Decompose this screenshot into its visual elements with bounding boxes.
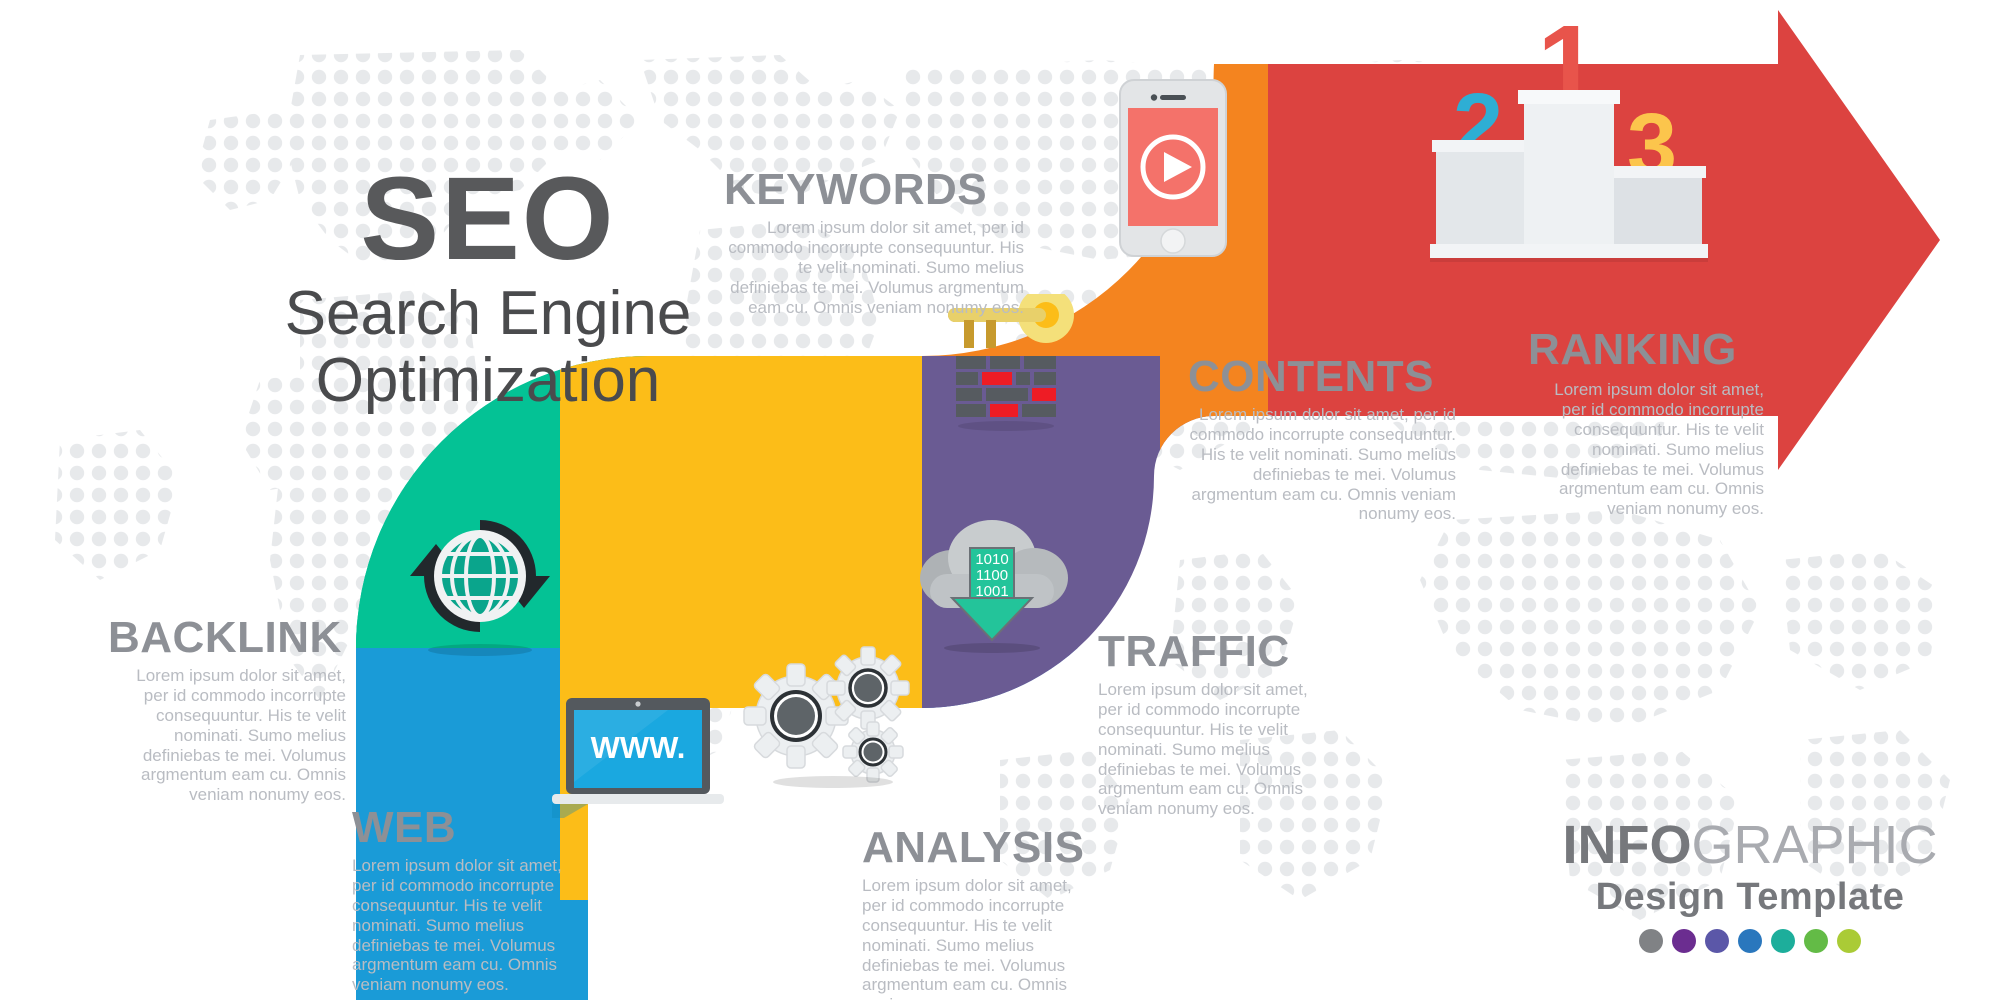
step-body-backlink: Lorem ipsum dolor sit amet, per id commo… bbox=[108, 666, 346, 805]
footer-logo: INFOGRAPHIC Design Template bbox=[1540, 818, 1960, 953]
smartphone-play-icon bbox=[1118, 78, 1228, 258]
footer-dot-5 bbox=[1771, 929, 1795, 953]
footer-dot-2 bbox=[1672, 929, 1696, 953]
podium-icon: 1 2 3 bbox=[1420, 14, 1720, 264]
footer-tagline: Design Template bbox=[1540, 876, 1960, 919]
footer-logo-wordmark: INFOGRAPHIC bbox=[1540, 818, 1960, 872]
gears-icon bbox=[738, 640, 928, 790]
step-body-traffic: Lorem ipsum dolor sit amet, per id commo… bbox=[1098, 680, 1336, 819]
step-block-backlink: BACKLINK Lorem ipsum dolor sit amet, per… bbox=[108, 616, 346, 805]
cloud-download-icon: 1010 1100 1001 bbox=[908, 516, 1076, 656]
step-body-keywords: Lorem ipsum dolor sit amet, per id commo… bbox=[724, 218, 1024, 317]
infographic-canvas: 1010 1100 1001 bbox=[0, 0, 2000, 1000]
seo-acronym: SEO bbox=[228, 160, 748, 278]
step-label-traffic: TRAFFIC bbox=[1098, 630, 1336, 674]
step-body-web: Lorem ipsum dolor sit amet, per id commo… bbox=[352, 856, 586, 995]
cloud-binary-line-1: 1010 bbox=[975, 551, 1008, 568]
step-body-contents: Lorem ipsum dolor sit amet, per id commo… bbox=[1188, 405, 1456, 524]
step-label-backlink: BACKLINK bbox=[108, 616, 346, 660]
seo-title-block: SEO Search Engine Optimization bbox=[228, 160, 748, 412]
step-label-web: WEB bbox=[352, 806, 586, 850]
footer-color-dots bbox=[1540, 929, 1960, 953]
footer-logo-graphic: GRAPHIC bbox=[1691, 815, 1937, 875]
footer-dot-6 bbox=[1804, 929, 1828, 953]
step-body-ranking: Lorem ipsum dolor sit amet, per id commo… bbox=[1528, 380, 1764, 519]
cloud-binary-line-3: 1001 bbox=[975, 583, 1008, 600]
step-block-contents: CONTENTS Lorem ipsum dolor sit amet, per… bbox=[1188, 355, 1456, 524]
step-block-keywords: KEYWORDS Lorem ipsum dolor sit amet, per… bbox=[724, 168, 1024, 317]
step-label-ranking: RANKING bbox=[1528, 328, 1764, 372]
seo-subtitle-line1: Search Engine bbox=[228, 282, 748, 345]
footer-dot-3 bbox=[1705, 929, 1729, 953]
seo-subtitle-line2: Optimization bbox=[228, 349, 748, 412]
footer-logo-info: INFO bbox=[1562, 815, 1691, 875]
cloud-binary-line-2: 1100 bbox=[976, 567, 1008, 584]
footer-dot-1 bbox=[1639, 929, 1663, 953]
footer-dot-4 bbox=[1738, 929, 1762, 953]
step-label-keywords: KEYWORDS bbox=[724, 168, 1024, 212]
laptop-screen-text: WWW. bbox=[591, 730, 686, 765]
step-label-analysis: ANALYSIS bbox=[862, 826, 1100, 870]
step-block-web: WEB Lorem ipsum dolor sit amet, per id c… bbox=[352, 806, 586, 995]
step-block-ranking: RANKING Lorem ipsum dolor sit amet, per … bbox=[1528, 328, 1764, 519]
step-body-analysis: Lorem ipsum dolor sit amet, per id commo… bbox=[862, 876, 1100, 1000]
step-block-analysis: ANALYSIS Lorem ipsum dolor sit amet, per… bbox=[862, 826, 1100, 1000]
globe-refresh-icon bbox=[400, 510, 560, 660]
footer-dot-7 bbox=[1837, 929, 1861, 953]
laptop-www-icon: WWW. bbox=[548, 690, 728, 820]
step-label-contents: CONTENTS bbox=[1188, 355, 1456, 399]
step-block-traffic: TRAFFIC Lorem ipsum dolor sit amet, per … bbox=[1098, 630, 1336, 819]
